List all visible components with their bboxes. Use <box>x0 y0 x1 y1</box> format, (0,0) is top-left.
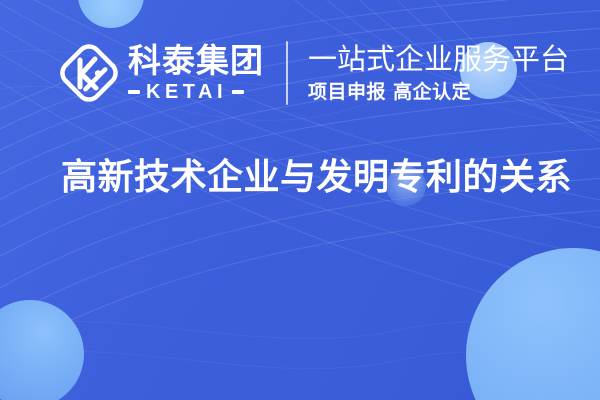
decorative-circle-top <box>78 0 144 28</box>
logo-name-en-row: KETAI <box>128 81 264 103</box>
ketai-logo-icon <box>58 42 120 104</box>
decorative-circle-bottom-right <box>466 248 600 400</box>
banner-cover: 科泰集团 KETAI 一站式企业服务平台 项目申报 高企认定 高新技术企业与发明… <box>0 0 600 400</box>
slogan-block: 一站式企业服务平台 项目申报 高企认定 <box>308 43 569 104</box>
logo-dash-left-icon <box>128 90 140 94</box>
logo-name-cn: 科泰集团 <box>128 43 264 79</box>
logo-name-en: KETAI <box>146 81 227 103</box>
slogan-main: 一站式企业服务平台 <box>308 43 569 77</box>
decorative-circle-bottom-left <box>0 300 84 400</box>
header-divider <box>286 41 288 105</box>
page-title: 高新技术企业与发明专利的关系 <box>61 154 572 200</box>
logo-wordmark: 科泰集团 KETAI <box>128 43 264 103</box>
brand-header: 科泰集团 KETAI 一站式企业服务平台 项目申报 高企认定 <box>58 36 569 110</box>
slogan-sub: 项目申报 高企认定 <box>308 80 569 104</box>
logo-dash-right-icon <box>232 90 244 94</box>
